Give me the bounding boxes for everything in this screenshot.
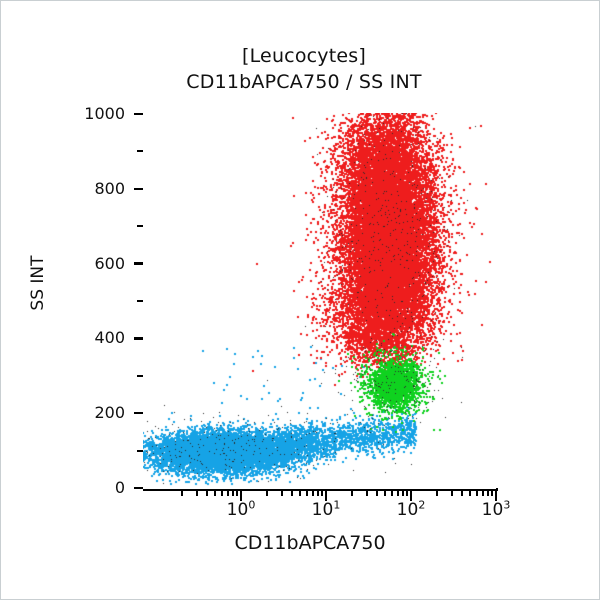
- chart-title-gate-name: [Leucocytes]: [1, 43, 600, 69]
- x-axis-tick-minor: [436, 490, 438, 496]
- x-axis-tick-minor: [406, 490, 408, 496]
- scatter-plot-area: [143, 113, 496, 489]
- x-axis-tick-minor: [376, 490, 378, 496]
- y-axis-tick-major: [134, 337, 143, 340]
- x-axis-tick-minor: [317, 490, 319, 496]
- x-axis-tick-minor: [391, 490, 393, 496]
- y-axis-tick-minor: [137, 150, 143, 152]
- x-axis-tick-minor: [487, 490, 489, 496]
- x-axis-tick-minor: [461, 490, 463, 496]
- x-axis-tick-minor: [306, 490, 308, 496]
- y-axis-tick-minor: [137, 300, 143, 302]
- x-axis-tick-minor: [384, 490, 386, 496]
- x-axis-tick-minor: [476, 490, 478, 496]
- chart-title-parameters: CD11bAPCA750 / SS INT: [1, 69, 600, 95]
- x-axis-tick-minor: [397, 490, 399, 496]
- x-axis-tick-minor: [196, 490, 198, 496]
- x-axis-tick-minor: [299, 490, 301, 496]
- y-axis-tick-minor: [137, 450, 143, 452]
- x-axis-tick-minor: [366, 490, 368, 496]
- x-axis-tick-minor: [227, 490, 229, 496]
- x-axis-label: CD11bAPCA750: [1, 532, 600, 554]
- x-axis-tick-minor: [291, 490, 293, 496]
- y-axis-tick-major: [134, 262, 143, 265]
- x-axis-tick-minor: [451, 490, 453, 496]
- x-axis-tick-label: 100: [227, 502, 256, 519]
- y-axis-tick-major: [134, 412, 143, 415]
- x-axis-tick-label: 102: [397, 502, 426, 519]
- y-axis-tick-minor: [137, 225, 143, 227]
- x-axis-tick-minor: [351, 490, 353, 496]
- y-axis-tick-label: 600: [65, 256, 125, 272]
- x-axis-tick-label: 103: [482, 502, 511, 519]
- x-axis-tick-minor: [281, 490, 283, 496]
- x-axis-tick-minor: [181, 490, 183, 496]
- scatter-points-canvas: [143, 113, 496, 489]
- x-axis-tick-minor: [402, 490, 404, 496]
- x-axis-tick-minor: [236, 490, 238, 496]
- x-axis-tick-minor: [214, 490, 216, 496]
- y-axis-tick-label: 200: [65, 405, 125, 421]
- y-axis-tick-major: [134, 487, 143, 490]
- y-axis-tick-label: 1000: [65, 106, 125, 122]
- x-axis-tick-label: 101: [312, 502, 341, 519]
- x-axis-tick-minor: [491, 490, 493, 496]
- x-axis-tick-minor: [266, 490, 268, 496]
- y-axis-tick-label: 400: [65, 330, 125, 346]
- x-axis-tick-minor: [232, 490, 234, 496]
- x-axis-tick-minor: [321, 490, 323, 496]
- y-axis-tick-label: 0: [65, 480, 125, 496]
- x-axis-tick-minor: [312, 490, 314, 496]
- y-axis-tick-major: [134, 188, 143, 191]
- y-axis-label: SS INT: [28, 213, 48, 353]
- y-axis-tick-label: 800: [65, 181, 125, 197]
- x-axis-tick-minor: [206, 490, 208, 496]
- y-axis-tick-major: [134, 113, 143, 116]
- flow-cytometry-plot-window: [Leucocytes] CD11bAPCA750 / SS INT SS IN…: [0, 0, 600, 600]
- y-axis-tick-minor: [137, 375, 143, 377]
- x-axis-tick-minor: [221, 490, 223, 496]
- chart-title-block: [Leucocytes] CD11bAPCA750 / SS INT: [1, 43, 600, 95]
- x-axis-tick-minor: [469, 490, 471, 496]
- x-axis-tick-minor: [482, 490, 484, 496]
